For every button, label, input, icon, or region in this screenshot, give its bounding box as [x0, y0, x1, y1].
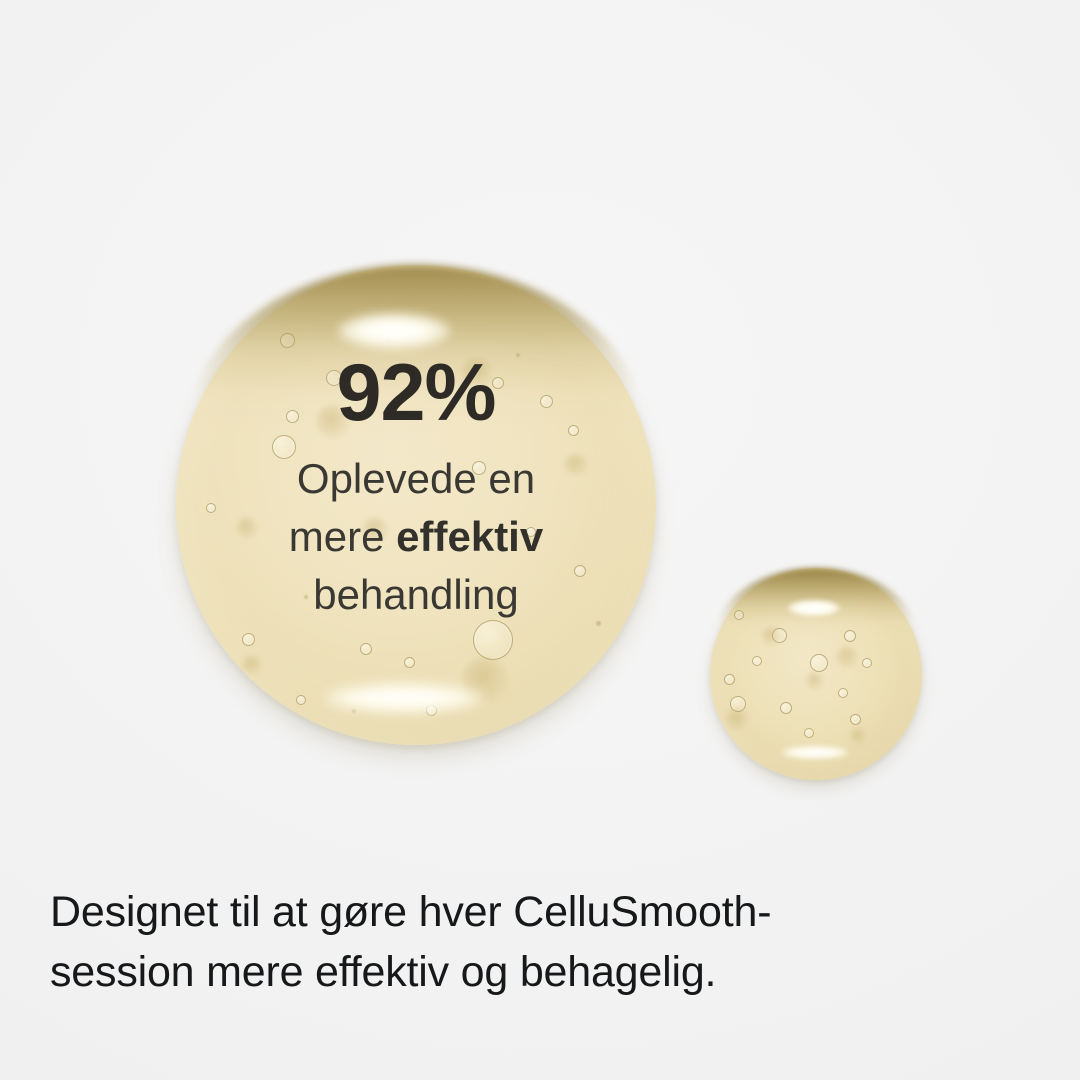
bubble-icon [286, 410, 299, 423]
large-gel-droplet [176, 265, 656, 745]
bubble-icon [206, 503, 216, 513]
bubble-icon [426, 705, 437, 716]
image-canvas: 92% Oplevede en mere effektiv behandling… [0, 0, 1080, 1080]
caption-block: Designet til at gøre hver CelluSmooth- s… [50, 882, 950, 1002]
bubble-blur-icon [762, 626, 782, 646]
bubble-blur-icon [462, 357, 492, 387]
bubble-blur-icon [806, 672, 824, 690]
bubble-icon [472, 461, 486, 475]
bubble-icon [492, 377, 504, 389]
bubble-icon [752, 656, 762, 666]
bubble-icon [862, 658, 872, 668]
large-droplet-edge [176, 265, 656, 745]
small-droplet-highlight-bottom [782, 746, 848, 759]
bubble-icon [780, 702, 792, 714]
bubble-blur-icon [316, 405, 350, 439]
bubble-dot-icon [352, 709, 356, 713]
bubble-icon [272, 435, 296, 459]
caption-line-2: session mere effektiv og behagelig. [50, 942, 950, 1002]
bubble-icon [360, 643, 372, 655]
bubble-icon [730, 696, 746, 712]
bubble-dot-icon [596, 621, 601, 626]
bubble-icon [734, 610, 744, 620]
bubble-icon [473, 620, 513, 660]
bubble-blur-icon [850, 728, 866, 744]
bubble-icon [850, 714, 861, 725]
large-droplet-top-rim [190, 265, 641, 428]
small-droplet-top-rim [716, 568, 915, 636]
bubble-blur-icon [462, 657, 508, 703]
bubble-icon [724, 674, 735, 685]
bubble-blur-icon [236, 517, 258, 539]
bubble-icon [838, 688, 848, 698]
bubble-icon [404, 657, 415, 668]
bubble-icon [242, 633, 255, 646]
bubble-icon [526, 527, 536, 537]
bubble-icon [804, 728, 814, 738]
bubble-icon [540, 395, 553, 408]
bubble-blur-icon [836, 646, 858, 668]
caption-line-1: Designet til at gøre hver CelluSmooth- [50, 882, 950, 942]
small-droplet-bubbles [710, 568, 922, 780]
small-droplet-edge [710, 568, 922, 780]
large-droplet-highlight-top [338, 313, 450, 349]
bubble-dot-icon [304, 595, 308, 599]
bubble-blur-icon [564, 453, 588, 477]
bubble-icon [574, 565, 586, 577]
bubble-icon [810, 654, 828, 672]
bubble-blur-icon [726, 708, 748, 730]
bubble-dot-icon [386, 337, 391, 342]
bubble-icon [772, 628, 787, 643]
bubble-icon [280, 333, 295, 348]
bubble-icon [568, 425, 579, 436]
bubble-blur-icon [242, 655, 262, 675]
bubble-dot-icon [516, 353, 520, 357]
large-droplet-highlight-bottom [324, 683, 484, 713]
bubble-icon [844, 630, 856, 642]
small-droplet-highlight-top [788, 600, 840, 616]
bubble-blur-icon [362, 517, 388, 543]
bubble-icon [326, 370, 342, 386]
large-droplet-bubbles [176, 265, 656, 745]
bubble-icon [296, 695, 306, 705]
small-gel-droplet [710, 568, 922, 780]
